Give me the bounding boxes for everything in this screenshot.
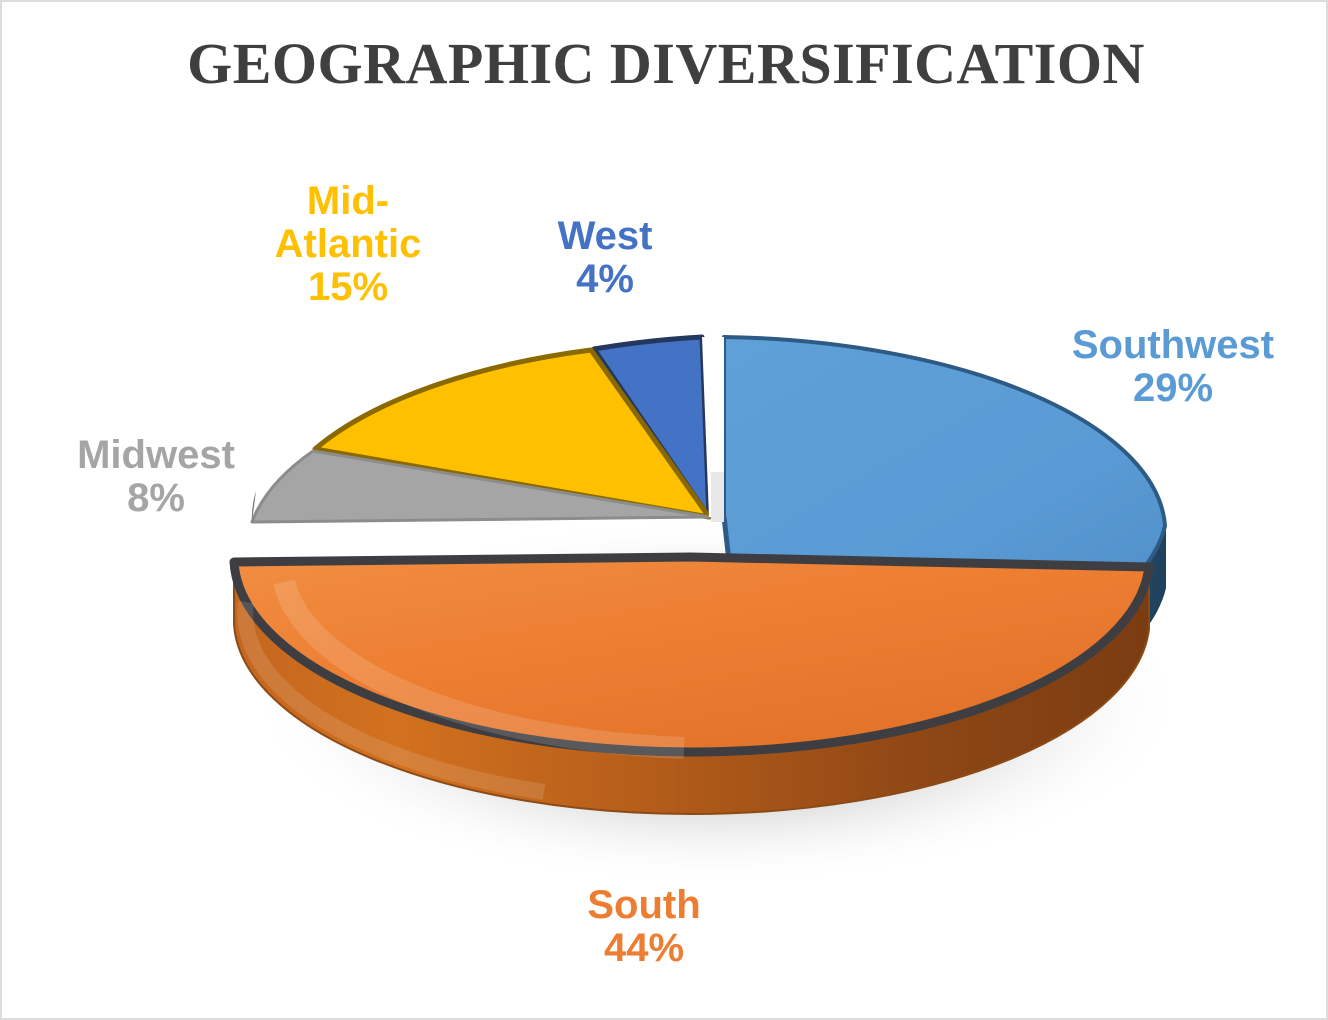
data-label-south: South 44% (514, 884, 774, 970)
data-label-west: West 4% (500, 215, 710, 301)
chart-canvas: GEOGRAPHIC DIVERSIFICATION (0, 0, 1328, 1020)
data-label-midatlantic: Mid- Atlantic 15% (248, 180, 448, 310)
data-label-southwest: Southwest 29% (1042, 324, 1304, 410)
data-label-midwest: Midwest 8% (40, 434, 272, 520)
pie-gap-shade (711, 472, 724, 522)
